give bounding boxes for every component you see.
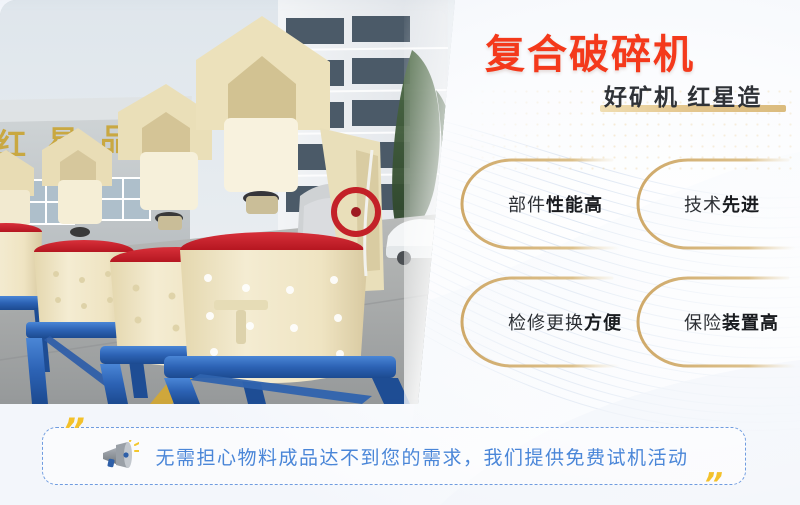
feature-list: 部件性能高 技术先进 检修更换方便 (450, 148, 800, 388)
quote-close-mark: ” (704, 470, 721, 500)
feature-item-1[interactable]: 技术先进 (628, 148, 800, 260)
feature-label-0: 部件性能高 (508, 191, 603, 217)
subtitle: 好矿机 红星造 (604, 78, 762, 112)
feature-label-1: 技术先进 (684, 191, 760, 217)
promo-callout-banner[interactable]: ” 无需担心物料成品达不到您的需求，我们提供免费试机活动 ” (42, 427, 746, 485)
page-title: 复合破碎机 (485, 22, 695, 80)
megaphone-icon (99, 440, 139, 472)
product-photo: 红星品 (0, 0, 458, 404)
feature-label-3: 保险装置高 (684, 309, 779, 335)
feature-label-2: 检修更换方便 (508, 309, 622, 335)
feature-item-2[interactable]: 检修更换方便 (452, 266, 628, 378)
banner-message: 无需担心物料成品达不到您的需求，我们提供免费试机活动 (155, 443, 688, 470)
feature-item-3[interactable]: 保险装置高 (628, 266, 800, 378)
feature-item-0[interactable]: 部件性能高 (452, 148, 628, 260)
subtitle-group: 好矿机 红星造 (604, 78, 762, 112)
promo-banner-canvas: 红星品 (0, 0, 800, 505)
